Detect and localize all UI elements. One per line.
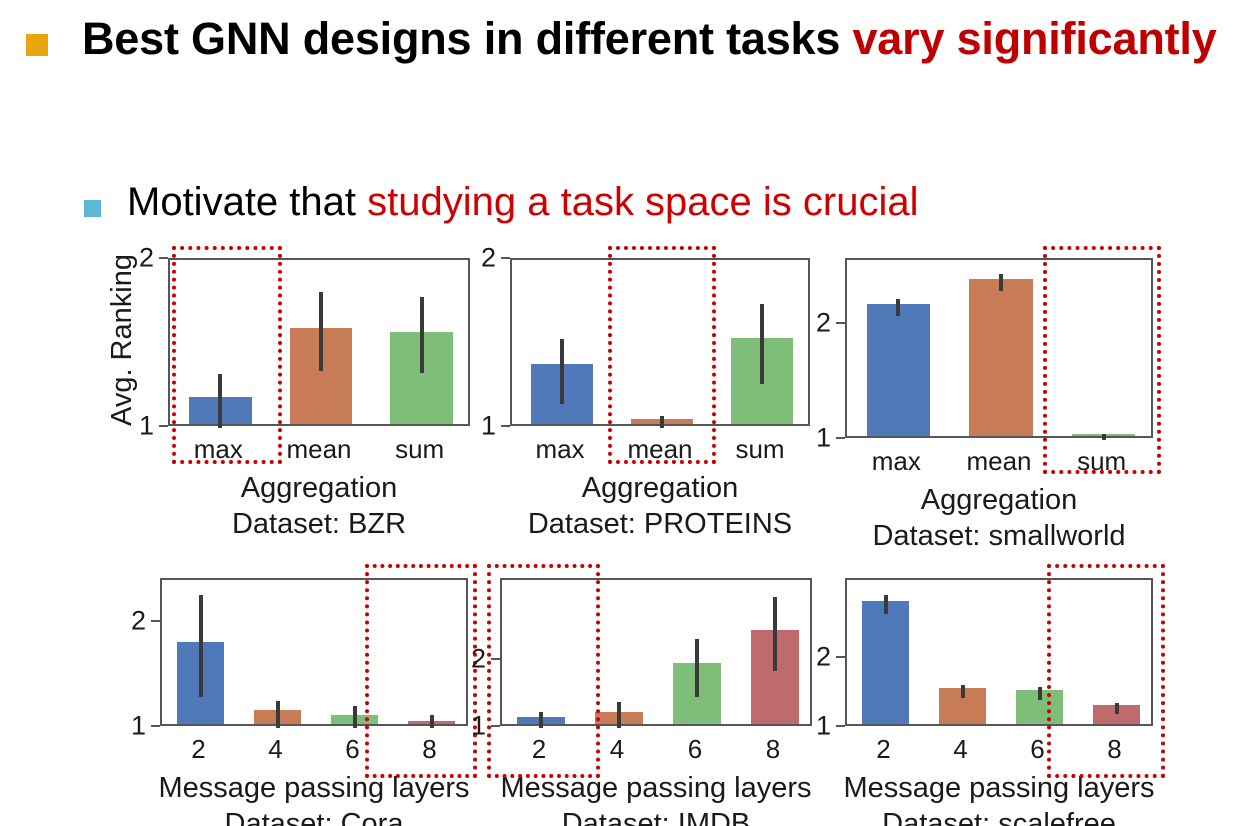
x-tick-label-4: 4	[953, 734, 967, 765]
error-bar-max	[896, 299, 900, 316]
y-tick-label-1: 1	[816, 423, 831, 454]
x-tick-label-6: 6	[688, 734, 702, 765]
y-tick-mark	[159, 257, 168, 259]
error-bar-8	[1115, 703, 1119, 715]
bar-mean	[969, 279, 1033, 436]
error-bar-2	[199, 595, 203, 697]
x-tick-label-8: 8	[422, 734, 436, 765]
y-tick-label-1: 1	[481, 411, 496, 442]
error-bar-max	[560, 339, 564, 405]
x-tick-label-6: 6	[345, 734, 359, 765]
error-bar-6	[353, 706, 357, 728]
dataset-caption: Dataset: BZR	[232, 508, 406, 541]
error-bar-4	[617, 702, 621, 728]
y-tick-mark	[159, 425, 168, 427]
x-tick-label-sum: sum	[735, 434, 784, 465]
chart-panel-cora: 246812Message passing layersDataset: Cor…	[160, 578, 468, 826]
error-bar-6	[695, 639, 699, 697]
error-bar-mean	[999, 274, 1003, 291]
error-bar-2	[884, 595, 888, 614]
y-tick-mark	[491, 725, 500, 727]
y-tick-label-1: 1	[131, 711, 146, 742]
dataset-caption: Dataset: PROTEINS	[528, 508, 792, 541]
x-axis-title: Aggregation	[921, 484, 1077, 517]
x-tick-label-4: 4	[610, 734, 624, 765]
chart-grid: maxmeansum12AggregationDataset: BZRAvg. …	[0, 236, 1260, 826]
x-tick-label-mean: mean	[966, 446, 1031, 477]
x-tick-label-mean: mean	[286, 434, 351, 465]
x-tick-label-8: 8	[766, 734, 780, 765]
error-bar-mean	[660, 416, 664, 428]
page-title: Best GNN designs in different tasks vary…	[82, 12, 1217, 67]
x-axis-title: Aggregation	[582, 472, 738, 505]
plot-area	[160, 578, 468, 726]
y-tick-mark	[491, 658, 500, 660]
y-tick-mark	[836, 725, 845, 727]
error-bar-sum	[1102, 434, 1106, 440]
plot-area	[845, 258, 1153, 438]
x-tick-label-max: max	[872, 446, 921, 477]
y-tick-mark	[836, 437, 845, 439]
y-tick-label-2: 2	[471, 643, 486, 674]
bar-2	[862, 601, 910, 724]
y-tick-label-2: 2	[131, 606, 146, 637]
y-tick-mark	[836, 656, 845, 658]
y-tick-label-2: 2	[816, 642, 831, 673]
dataset-caption: Dataset: Cora	[225, 808, 404, 826]
plot-area	[845, 578, 1153, 726]
x-tick-label-6: 6	[1030, 734, 1044, 765]
error-bar-mean	[319, 292, 323, 371]
error-bar-sum	[420, 297, 424, 373]
title-bullet-row: Best GNN designs in different tasks vary…	[26, 12, 1236, 67]
x-axis-title: Message passing layers	[843, 772, 1154, 805]
x-axis-title: Aggregation	[241, 472, 397, 505]
y-tick-label-1: 1	[139, 411, 154, 442]
chart-panel-proteins: maxmeansum12AggregationDataset: PROTEINS	[510, 258, 810, 546]
x-tick-label-sum: sum	[395, 434, 444, 465]
x-tick-label-max: max	[194, 434, 243, 465]
subtitle-bullet-row: Motivate that studying a task space is c…	[84, 178, 1244, 226]
x-tick-label-8: 8	[1107, 734, 1121, 765]
y-tick-label-1: 1	[816, 711, 831, 742]
y-tick-label-2: 2	[481, 243, 496, 274]
y-axis-title: Avg. Ranking	[106, 254, 139, 426]
x-tick-label-2: 2	[191, 734, 205, 765]
subtitle: Motivate that studying a task space is c…	[127, 178, 919, 226]
y-tick-mark	[501, 257, 510, 259]
dataset-caption: Dataset: IMDB	[562, 808, 751, 826]
dataset-caption: Dataset: smallworld	[872, 520, 1125, 553]
y-tick-mark	[501, 425, 510, 427]
y-tick-label-2: 2	[816, 308, 831, 339]
square-sub-bullet-icon	[84, 200, 101, 217]
y-tick-mark	[151, 725, 160, 727]
error-bar-4	[276, 701, 280, 728]
square-bullet-icon	[26, 34, 48, 56]
y-tick-mark	[151, 620, 160, 622]
y-tick-label-2: 2	[139, 243, 154, 274]
error-bar-sum	[760, 304, 764, 385]
plot-area	[500, 578, 812, 726]
x-tick-label-2: 2	[876, 734, 890, 765]
x-axis-title: Message passing layers	[500, 772, 811, 805]
plot-area	[168, 258, 470, 426]
chart-panel-scalefree: 246812Message passing layersDataset: sca…	[845, 578, 1153, 826]
x-tick-label-4: 4	[268, 734, 282, 765]
plot-area	[510, 258, 810, 426]
x-axis-title: Message passing layers	[158, 772, 469, 805]
x-tick-label-sum: sum	[1077, 446, 1126, 477]
y-tick-mark	[836, 322, 845, 324]
error-bar-2	[539, 712, 543, 728]
title-plain-text: Best GNN designs in different tasks	[82, 13, 852, 64]
chart-panel-smallworld: maxmeansum12AggregationDataset: smallwor…	[845, 258, 1153, 558]
y-tick-label-1: 1	[471, 711, 486, 742]
x-tick-label-max: max	[535, 434, 584, 465]
dataset-caption: Dataset: scalefree	[882, 808, 1116, 826]
subtitle-highlight-text: studying a task space is crucial	[367, 180, 918, 224]
x-tick-label-2: 2	[532, 734, 546, 765]
error-bar-4	[961, 685, 965, 698]
chart-panel-imdb: 246812Message passing layersDataset: IMD…	[500, 578, 812, 826]
error-bar-8	[430, 715, 434, 728]
bar-max	[867, 304, 931, 436]
chart-panel-bzr: maxmeansum12AggregationDataset: BZRAvg. …	[168, 258, 470, 546]
error-bar-max	[218, 374, 222, 428]
slide-canvas: Best GNN designs in different tasks vary…	[0, 0, 1260, 826]
x-tick-label-mean: mean	[627, 434, 692, 465]
subtitle-plain-text: Motivate that	[127, 180, 367, 224]
error-bar-6	[1038, 687, 1042, 701]
error-bar-8	[773, 597, 777, 672]
title-highlight-text: vary significantly	[852, 13, 1216, 64]
